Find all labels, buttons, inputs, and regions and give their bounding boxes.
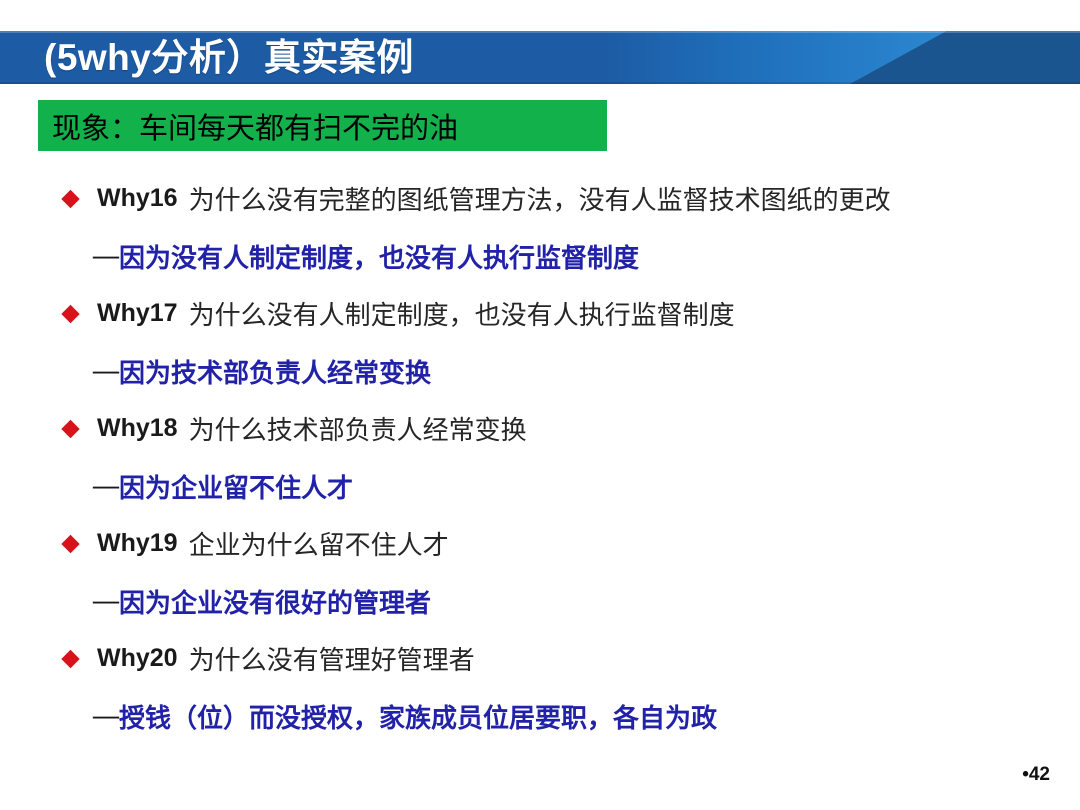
answer-dash: — (93, 701, 119, 731)
diamond-bullet-icon (61, 304, 79, 322)
question-row: Why17 为什么没有人制定制度，也没有人执行监督制度 (0, 285, 1080, 342)
answer-dash: — (93, 586, 119, 616)
qa-block: Why17 为什么没有人制定制度，也没有人执行监督制度 — 因为技术部负责人经常… (0, 285, 1080, 400)
question-text: 为什么没有完整的图纸管理方法，没有人监督技术图纸的更改 (189, 180, 891, 217)
question-label: Why18 (97, 414, 178, 443)
answer-text: 因为企业没有很好的管理者 (119, 583, 431, 620)
question-row: Why19 企业为什么留不住人才 (0, 515, 1080, 572)
qa-block: Why20 为什么没有管理好管理者 — 授钱（位）而没授权，家族成员位居要职，各… (0, 630, 1080, 745)
phenomenon-box: 现象：车间每天都有扫不完的油 (38, 100, 607, 151)
answer-text: 授钱（位）而没授权，家族成员位居要职，各自为政 (119, 698, 717, 735)
answer-row: — 因为企业没有很好的管理者 (0, 572, 1080, 630)
question-row: Why20 为什么没有管理好管理者 (0, 630, 1080, 687)
answer-row: — 因为技术部负责人经常变换 (0, 342, 1080, 400)
answer-dash: — (93, 241, 119, 271)
question-row: Why16 为什么没有完整的图纸管理方法，没有人监督技术图纸的更改 (0, 170, 1080, 227)
qa-block: Why16 为什么没有完整的图纸管理方法，没有人监督技术图纸的更改 — 因为没有… (0, 170, 1080, 285)
answer-text: 因为企业留不住人才 (119, 468, 353, 505)
question-text: 企业为什么留不住人才 (189, 525, 449, 562)
diamond-bullet-icon (61, 534, 79, 552)
answer-row: — 授钱（位）而没授权，家族成员位居要职，各自为政 (0, 687, 1080, 745)
question-text: 为什么技术部负责人经常变换 (189, 410, 527, 447)
diamond-bullet-icon (61, 649, 79, 667)
diamond-bullet-icon (61, 419, 79, 437)
diamond-bullet-icon (61, 189, 79, 207)
question-text: 为什么没有管理好管理者 (189, 640, 475, 677)
answer-dash: — (93, 356, 119, 386)
answer-row: — 因为没有人制定制度，也没有人执行监督制度 (0, 227, 1080, 285)
question-label: Why16 (97, 184, 178, 213)
page-number: •42 (1022, 764, 1050, 786)
question-label: Why17 (97, 299, 178, 328)
question-label: Why19 (97, 529, 178, 558)
question-row: Why18 为什么技术部负责人经常变换 (0, 400, 1080, 457)
slide-canvas: (5why分析）真实案例 现象：车间每天都有扫不完的油 Why16 为什么没有完… (0, 0, 1080, 810)
page-title: (5why分析）真实案例 (44, 30, 414, 86)
answer-row: — 因为企业留不住人才 (0, 457, 1080, 515)
qa-list: Why16 为什么没有完整的图纸管理方法，没有人监督技术图纸的更改 — 因为没有… (0, 170, 1080, 745)
phenomenon-text: 现象：车间每天都有扫不完的油 (38, 105, 458, 147)
qa-block: Why18 为什么技术部负责人经常变换 — 因为企业留不住人才 (0, 400, 1080, 515)
question-text: 为什么没有人制定制度，也没有人执行监督制度 (189, 295, 735, 332)
answer-dash: — (93, 471, 119, 501)
question-label: Why20 (97, 644, 178, 673)
answer-text: 因为技术部负责人经常变换 (119, 353, 431, 390)
qa-block: Why19 企业为什么留不住人才 — 因为企业没有很好的管理者 (0, 515, 1080, 630)
answer-text: 因为没有人制定制度，也没有人执行监督制度 (119, 238, 639, 275)
